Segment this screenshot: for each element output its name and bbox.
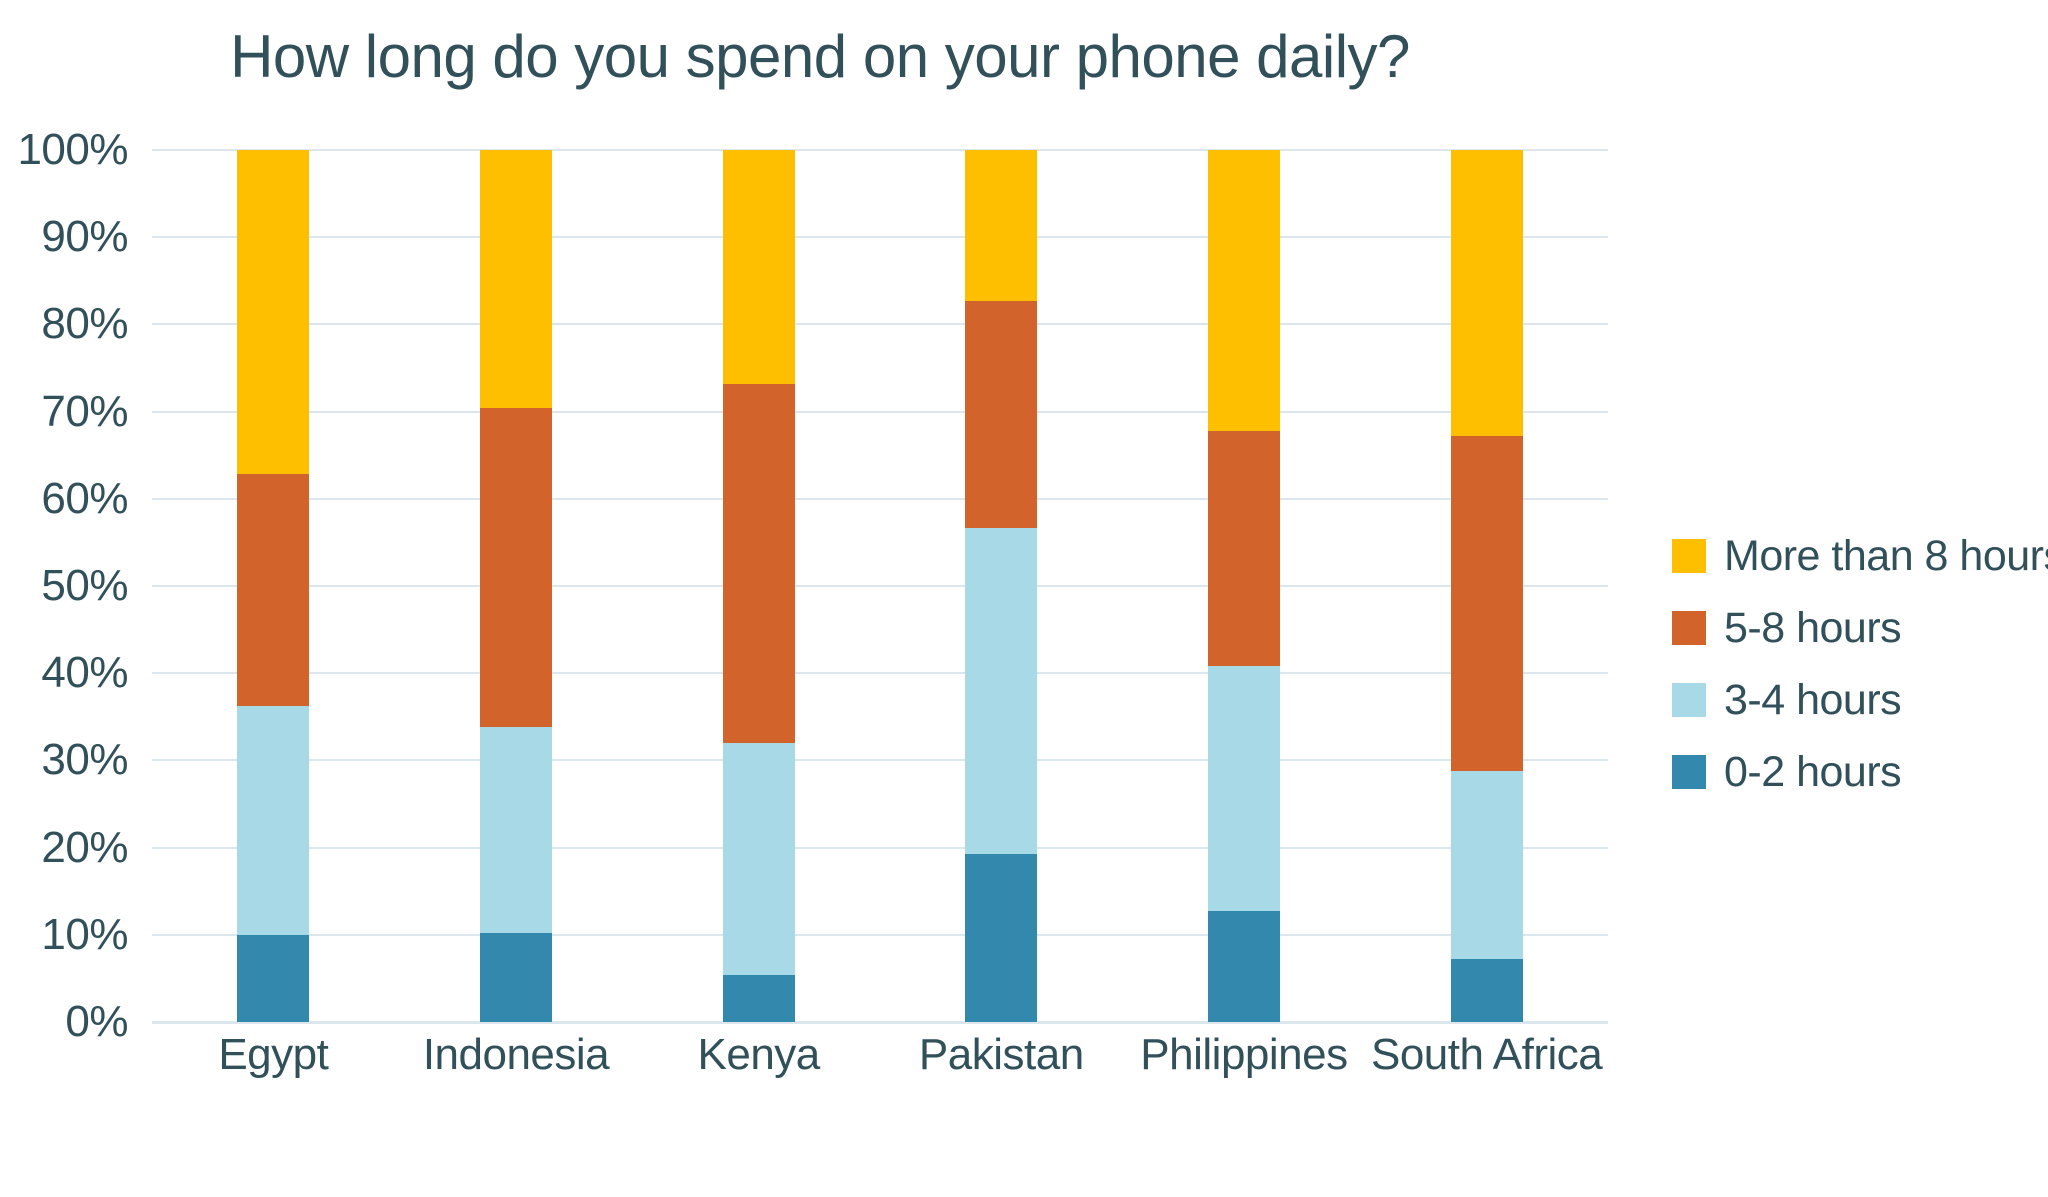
bar-segment[interactable] [1208,150,1280,431]
bar-segment[interactable] [1451,959,1523,1022]
bar-segment[interactable] [723,150,795,384]
legend-swatch-icon [1672,683,1706,717]
bar-segment[interactable] [237,935,309,1022]
stacked-bar[interactable] [480,150,552,1022]
bar-segment[interactable] [1208,666,1280,911]
legend-label: More than 8 hours [1724,532,2048,581]
legend-label: 5-8 hours [1724,604,1901,653]
bar-group [1365,150,1608,1022]
legend-swatch-icon [1672,539,1706,573]
bar-segment[interactable] [965,301,1037,528]
legend-item[interactable]: 3-4 hours [1672,664,2042,736]
x-axis-tick-label: Kenya [637,1030,880,1110]
legend-swatch-icon [1672,755,1706,789]
y-axis-tick-label: 90% [41,212,128,262]
bar-segment[interactable] [1451,771,1523,959]
y-axis-tick-label: 70% [41,387,128,437]
legend-label: 3-4 hours [1724,676,1901,725]
legend-item[interactable]: More than 8 hours [1672,520,2042,592]
bar-segment[interactable] [965,528,1037,854]
bar-group [637,150,880,1022]
bar-segment[interactable] [237,150,309,474]
stacked-bar[interactable] [723,150,795,1022]
x-axis-tick-label: Philippines [1123,1030,1366,1110]
bar-segment[interactable] [480,150,552,408]
bar-segment[interactable] [237,474,309,706]
y-axis-tick-label: 40% [41,648,128,698]
y-axis-tick-label: 10% [41,910,128,960]
chart-legend: More than 8 hours5-8 hours3-4 hours0-2 h… [1672,520,2042,808]
stacked-bar[interactable] [237,150,309,1022]
bars-layer [152,150,1608,1022]
y-axis-tick-label: 20% [41,823,128,873]
stacked-bar[interactable] [1208,150,1280,1022]
bar-segment[interactable] [723,743,795,975]
bar-group [880,150,1123,1022]
y-axis-tick-label: 60% [41,474,128,524]
bar-segment[interactable] [965,854,1037,1022]
bar-segment[interactable] [1451,150,1523,436]
bar-segment[interactable] [480,933,552,1022]
stacked-bar[interactable] [965,150,1037,1022]
legend-label: 0-2 hours [1724,748,1901,797]
bar-segment[interactable] [1451,436,1523,771]
bar-segment[interactable] [723,384,795,743]
x-axis-tick-label: South Africa [1365,1030,1608,1110]
x-axis-tick-label: Egypt [152,1030,395,1110]
bar-segment[interactable] [723,975,795,1022]
bar-segment[interactable] [965,150,1037,301]
y-axis-tick-label: 30% [41,735,128,785]
bar-segment[interactable] [237,706,309,934]
y-axis-tick-label: 50% [41,561,128,611]
bar-segment[interactable] [480,727,552,933]
bar-group [1123,150,1366,1022]
bar-segment[interactable] [1208,911,1280,1022]
plot-area [152,150,1608,1022]
legend-item[interactable]: 0-2 hours [1672,736,2042,808]
y-axis: 100%90%80%70%60%50%40%30%20%10%0% [0,150,140,1110]
legend-item[interactable]: 5-8 hours [1672,592,2042,664]
y-axis-tick-label: 80% [41,299,128,349]
x-axis: EgyptIndonesiaKenyaPakistanPhilippinesSo… [152,1030,1608,1110]
x-axis-tick-label: Pakistan [880,1030,1123,1110]
bar-group [152,150,395,1022]
bar-segment[interactable] [480,408,552,727]
y-axis-tick-label: 0% [65,997,128,1047]
y-axis-tick-label: 100% [17,125,128,175]
bar-group [395,150,638,1022]
chart-title: How long do you spend on your phone dail… [0,22,1640,91]
stacked-bar[interactable] [1451,150,1523,1022]
legend-swatch-icon [1672,611,1706,645]
x-axis-tick-label: Indonesia [395,1030,638,1110]
chart-container: How long do you spend on your phone dail… [0,0,2048,1197]
plot-wrapper: 100%90%80%70%60%50%40%30%20%10%0% EgyptI… [0,150,1640,1110]
bar-segment[interactable] [1208,431,1280,666]
